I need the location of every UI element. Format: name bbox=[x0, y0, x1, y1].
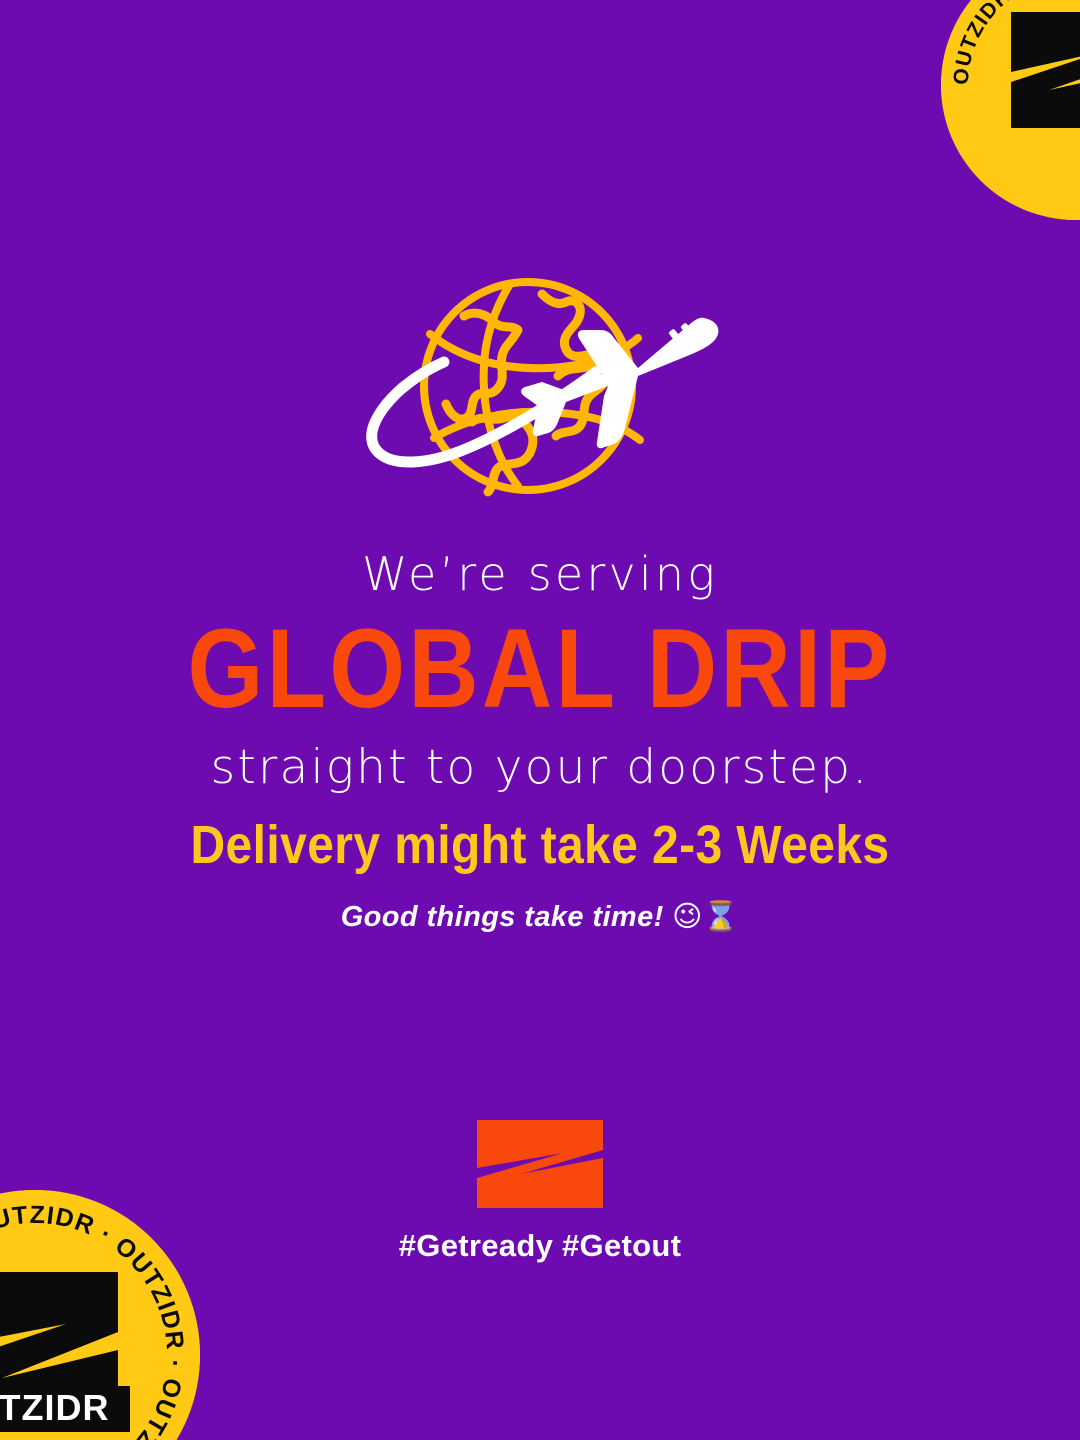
delivery-subtext: Good things take time! 😉⌛ bbox=[0, 899, 1080, 934]
headline-block: We’re serving GLOBAL DRIP straight to yo… bbox=[0, 548, 1080, 795]
badge-banner: OUTZIDR bbox=[0, 1386, 130, 1432]
poster-canvas: OUTZIDR · OUTZIDR · OUTZIDR · OUTZIDR · … bbox=[0, 0, 1080, 1440]
delivery-headline: Delivery might take 2-3 Weeks bbox=[0, 817, 1080, 876]
footer-block: #Getready #Getout bbox=[0, 1120, 1080, 1264]
hashtags-text: #Getready #Getout bbox=[0, 1228, 1080, 1264]
z-logo bbox=[477, 1120, 603, 1208]
delivery-subtext-label: Good things take time! bbox=[341, 901, 664, 933]
headline-line-2: GLOBAL DRIP bbox=[0, 613, 1080, 725]
delivery-block: Delivery might take 2-3 Weeks Good thing… bbox=[0, 820, 1080, 934]
headline-line-3: straight to your doorstep. bbox=[0, 741, 1080, 795]
globe-airplane-icon bbox=[352, 272, 728, 520]
badge-top-right: OUTZIDR · OUTZIDR · OUTZIDR · OUTZIDR · bbox=[941, 0, 1080, 220]
headline-line-1: We’re serving bbox=[0, 548, 1080, 601]
wink-face-emoji: 😉 bbox=[672, 899, 703, 933]
badge-banner-text: OUTZIDR bbox=[0, 1387, 109, 1428]
hourglass-emoji: ⌛ bbox=[703, 899, 740, 933]
